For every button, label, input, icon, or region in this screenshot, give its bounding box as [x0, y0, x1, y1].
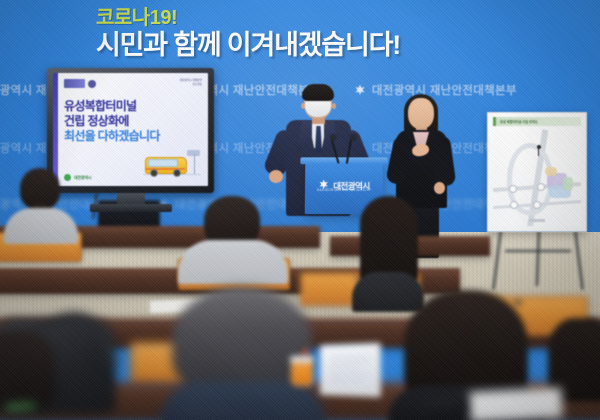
yellow-bus-at-terminal-icon: [143, 150, 201, 180]
podium-sub-label: DAEJEON METROPOLITAN CITY: [317, 188, 371, 192]
slide-accent-band: [53, 73, 58, 186]
speaker-left-hand: [269, 170, 283, 183]
camera-backpack: [0, 318, 116, 414]
map-scale-bar: [529, 219, 545, 222]
audience-head: [548, 318, 600, 402]
map-junction-node: [537, 183, 545, 191]
map-junction-node: [533, 201, 541, 209]
smartphone: [419, 396, 464, 417]
bus-window: [148, 159, 178, 167]
interpreter-face: [410, 102, 432, 128]
cup-lid: [290, 356, 314, 363]
slide-footer-org: 대전광역시: [74, 175, 91, 181]
site-plan-board: 유성 복합터미널 사업 위치도: [487, 112, 587, 232]
site-plan-map: [493, 129, 581, 226]
backdrop-headline: 코로나19! 시민과 함께 이겨내겠습니다!: [96, 8, 516, 59]
laptop-text-line: [330, 374, 369, 376]
board-header: 유성 복합터미널 사업 위치도: [493, 117, 581, 126]
laptop-screen: [326, 349, 373, 390]
map-junction-node: [510, 201, 518, 209]
slide-footer: 대전광역시: [64, 174, 91, 181]
desk-paper: [469, 388, 562, 420]
monitor-screen: 대전광역시 대책본부 보도자료 유성복합터미널 건립 정상화에 최선을 다하겠습…: [53, 73, 208, 186]
floor-carpet: [0, 232, 600, 322]
laptop-text-line: [330, 380, 363, 382]
laptop-text-line: [330, 356, 367, 358]
slide-headline-line3: 최선을 다하겠습니다: [64, 130, 160, 142]
microphone-icon: [350, 134, 357, 141]
speaker-hair: [302, 84, 334, 101]
desk-row: [0, 382, 600, 420]
presentation-monitor: 대전광역시 대책본부 보도자료 유성복합터미널 건립 정상화에 최선을 다하겠습…: [47, 68, 214, 193]
slide-meta-line2: 보도자료: [180, 83, 202, 87]
laptop-text-line: [330, 362, 371, 364]
map-zone-area: [563, 177, 573, 191]
cup-straw: [301, 348, 307, 364]
slide-logo-dot-icon: [88, 80, 96, 88]
podium-top-surface: [300, 157, 387, 164]
cup-body: [291, 360, 313, 386]
audience-head: [0, 330, 56, 410]
podium-branding: 대전광역시: [318, 177, 370, 195]
sign-language-interpreter: [393, 96, 449, 256]
board-header-text: 유성 복합터미널 사업 위치도: [500, 119, 538, 124]
audience-member: [548, 318, 600, 420]
bus-stop-pole: [194, 154, 195, 174]
location-pin-icon: [537, 145, 541, 149]
monitor-bezel: 대전광역시 대책본부 보도자료 유성복합터미널 건립 정상화에 최선을 다하겠습…: [47, 68, 214, 193]
slide-headline-line2: 건립 정상화에: [64, 115, 129, 127]
monitor-base: [90, 204, 172, 212]
headline-main-line: 시민과 함께 이겨내겠습니다!: [96, 32, 516, 59]
easel-crossbar: [505, 250, 571, 252]
slide-logo-mark-icon: [64, 79, 85, 88]
audience-member: [0, 330, 56, 420]
map-zone-area: [545, 167, 557, 176]
podium: 대전광역시 DAEJEON METROPOLITAN CITY: [305, 162, 384, 214]
green-pen: [6, 403, 36, 410]
slide-meta: 대전광역시 대책본부 보도자료: [180, 79, 202, 87]
green-circle-logo-icon: [64, 174, 71, 181]
speaker-ear: [332, 103, 336, 109]
interpreter-resting-hand: [434, 182, 445, 194]
press-briefing-scene: 대전광역시 재난안전대책본부 대전광역시 재난안전대책본부 대전광역시 재난안전…: [0, 0, 600, 420]
reporter-laptop: [318, 344, 380, 400]
daejeon-star-icon: [318, 177, 329, 195]
microphone-icon: [330, 134, 337, 141]
bus-wheel: [150, 169, 158, 177]
headline-top-line: 코로나19!: [96, 8, 516, 28]
audience-torso: [388, 386, 546, 420]
laptop-lid: [320, 343, 381, 398]
map-junction-node: [509, 185, 517, 193]
interpreter-trousers: [403, 206, 439, 258]
drink-cup: [290, 352, 314, 386]
laptop-text-line: [330, 368, 359, 369]
audience-torso: [160, 382, 326, 420]
slide-headline-line1: 유성복합터미널: [64, 100, 136, 112]
audience-chair: [130, 342, 280, 388]
slide-header-logo: [64, 79, 96, 88]
bus-wheel: [173, 169, 181, 177]
desk-row: [0, 318, 600, 348]
